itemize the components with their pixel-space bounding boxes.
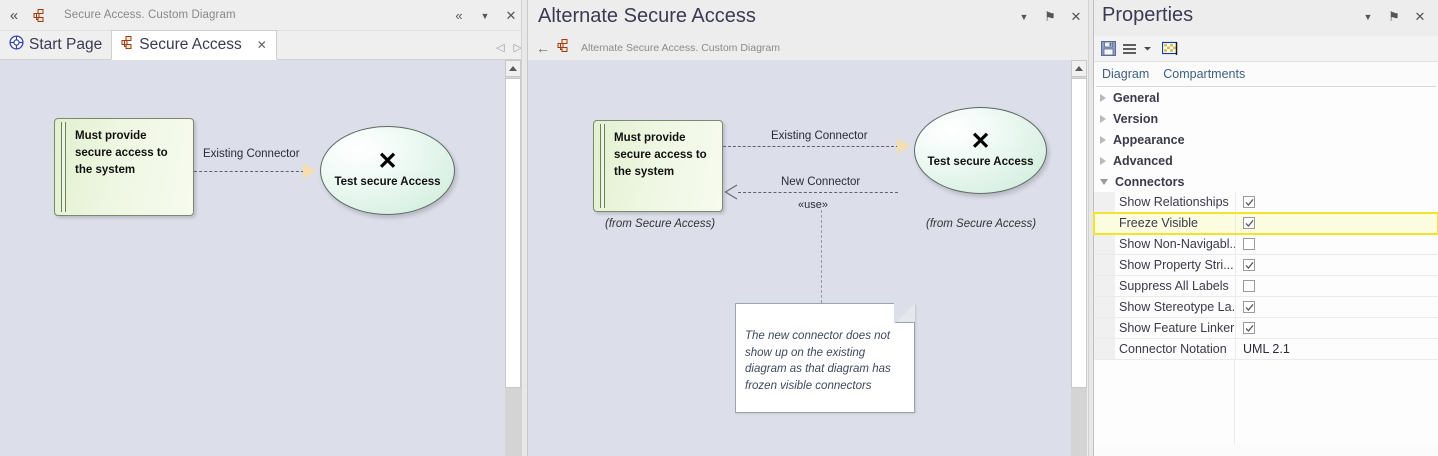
alternate-diagram-canvas[interactable]: Must provide secure access to the system… — [528, 60, 1078, 456]
new-connector-label: New Connector — [781, 176, 860, 188]
property-value[interactable] — [1235, 234, 1438, 254]
close-button[interactable]: ✕ — [1063, 4, 1089, 30]
chevron-right-icon — [1100, 94, 1106, 102]
tab-close-icon[interactable]: ✕ — [257, 38, 267, 52]
property-row-suppress-all-labels[interactable]: Suppress All Labels — [1094, 276, 1438, 297]
chevrons-left-icon[interactable]: « — [0, 8, 28, 23]
row-gutter — [1094, 213, 1115, 233]
save-icon[interactable] — [1101, 41, 1116, 56]
pin-button[interactable]: ⚑ — [1037, 4, 1063, 30]
breadcrumb-text: Alternate Secure Access. Custom Diagram — [581, 42, 780, 54]
property-group-version[interactable]: Version — [1094, 108, 1438, 129]
tab-navigation: ◁ ▷ — [496, 41, 522, 54]
properties-titlebar: Properties ▼ ⚑ ✕ — [1094, 0, 1438, 36]
checkered-flag-icon[interactable] — [1162, 41, 1178, 56]
left-right-splitter[interactable] — [521, 0, 528, 456]
tab-start-page-label: Start Page — [29, 36, 102, 54]
chevron-right-icon — [1100, 157, 1106, 165]
property-row-show-property-string[interactable]: Show Property Stri... — [1094, 255, 1438, 276]
tab-secure-access-label: Secure Access — [139, 36, 242, 54]
tab-secure-access[interactable]: Secure Access ✕ — [111, 30, 277, 60]
checkbox-checked[interactable] — [1243, 322, 1255, 334]
existing-connector-arrowhead — [897, 138, 910, 154]
left-diagram-canvas[interactable]: Must provide secure access to the system… — [0, 60, 512, 456]
row-gutter — [1094, 234, 1115, 254]
tab-prev-icon[interactable]: ◁ — [496, 41, 504, 54]
empty-row — [1094, 402, 1438, 423]
properties-empty-area — [1094, 360, 1438, 444]
breadcrumb: ← Alternate Secure Access. Custom Diagra… — [528, 36, 1094, 60]
left-canvas-bottom-edge — [0, 452, 512, 456]
scrollbar-thumb[interactable] — [505, 78, 521, 388]
usecase-shape[interactable]: ✕ Test secure Access — [320, 126, 455, 215]
property-row-show-stereotype-labels[interactable]: Show Stereotype La... — [1094, 297, 1438, 318]
left-diagram-panel: « Secure Access. Custom Diagram « ▼ ✕ — [0, 0, 528, 456]
property-row-connector-notation[interactable]: Connector Notation UML 2.1 — [1094, 339, 1438, 360]
requirement-shape[interactable]: Must provide secure access to the system — [593, 120, 723, 212]
property-label: Show Property Stri... — [1115, 258, 1235, 272]
left-panel-titlebar-buttons: « ▼ ✕ — [446, 0, 524, 31]
alternate-diagram-panel: Alternate Secure Access ▼ ⚑ ✕ ← Alternat… — [528, 0, 1094, 456]
property-label: Show Feature Linker — [1115, 321, 1235, 335]
checkbox-unchecked[interactable] — [1243, 238, 1255, 250]
properties-tree: General Version Appearance Advanced Conn… — [1094, 87, 1438, 444]
new-connector-stereotype: «use» — [798, 199, 828, 211]
requirement-from-label: (from Secure Access) — [605, 218, 715, 230]
row-gutter — [1094, 297, 1115, 317]
menu-dropdown-button[interactable]: ▼ — [1011, 4, 1037, 30]
menu-dropdown-button[interactable]: ▼ — [1355, 4, 1381, 30]
mid-panel-titlebar-buttons: ▼ ⚑ ✕ — [1011, 4, 1089, 30]
properties-toolbar — [1094, 36, 1438, 62]
left-panel-tabstrip: Start Page Secure Access ✕ ◁ ▷ — [0, 31, 528, 60]
properties-tabs: Diagram Compartments — [1094, 62, 1438, 86]
close-button[interactable]: ✕ — [1407, 4, 1433, 30]
collapse-button[interactable]: « — [446, 3, 472, 29]
property-group-advanced[interactable]: Advanced — [1094, 150, 1438, 171]
scrollbar-up-button[interactable] — [1071, 60, 1087, 77]
property-value[interactable] — [1235, 318, 1438, 338]
existing-connector-label: Existing Connector — [203, 148, 300, 160]
chevron-right-icon — [1100, 136, 1106, 144]
existing-connector-line[interactable] — [723, 146, 899, 147]
property-row-show-relationships[interactable]: Show Relationships — [1094, 192, 1438, 213]
property-label: Show Stereotype La... — [1115, 300, 1235, 314]
note-fold-triangle — [894, 303, 915, 324]
pin-button[interactable]: ⚑ — [1381, 4, 1407, 30]
left-panel-titlebar: « Secure Access. Custom Diagram « ▼ ✕ — [0, 0, 528, 31]
row-gutter — [1094, 339, 1115, 359]
property-group-connectors[interactable]: Connectors — [1094, 171, 1438, 192]
requirement-text: Must provide secure access to the system — [75, 128, 187, 179]
property-group-label: General — [1113, 91, 1160, 105]
property-label: Freeze Visible — [1115, 216, 1235, 230]
row-gutter — [1094, 192, 1115, 212]
mid-panel-titlebar: Alternate Secure Access ▼ ⚑ ✕ — [528, 0, 1094, 36]
property-row-freeze-visible[interactable]: Freeze Visible — [1094, 213, 1438, 234]
back-arrow-icon[interactable]: ← — [536, 41, 550, 55]
empty-row — [1094, 381, 1438, 402]
property-value[interactable] — [1235, 213, 1438, 233]
row-gutter — [1094, 318, 1115, 338]
usecase-from-label: (from Secure Access) — [926, 218, 1036, 230]
left-panel-title: Secure Access. Custom Diagram — [64, 9, 236, 21]
usecase-x-icon: ✕ — [377, 154, 397, 170]
existing-connector-arrowhead — [303, 163, 316, 179]
property-value[interactable] — [1235, 255, 1438, 275]
new-connector-arrowhead — [724, 184, 738, 200]
property-row-show-feature-linker[interactable]: Show Feature Linker — [1094, 318, 1438, 339]
note-shape[interactable]: The new connector does not show up on th… — [735, 303, 915, 413]
property-row-show-non-navigable[interactable]: Show Non-Navigabl... — [1094, 234, 1438, 255]
empty-row — [1094, 360, 1438, 381]
mid-panel-title: Alternate Secure Access — [538, 5, 756, 28]
property-group-label: Advanced — [1113, 154, 1173, 168]
usecase-x-icon: ✕ — [970, 134, 990, 150]
property-label: Show Non-Navigabl... — [1115, 237, 1235, 251]
properties-panel: Properties ▼ ⚑ ✕ — [1094, 0, 1438, 456]
note-anchor-line — [821, 210, 822, 303]
row-gutter — [1094, 255, 1115, 275]
existing-connector-label: Existing Connector — [771, 130, 868, 142]
property-group-general[interactable]: General — [1094, 87, 1438, 108]
property-label: Connector Notation — [1115, 342, 1235, 356]
tab-diagram[interactable]: Diagram — [1102, 67, 1149, 81]
usecase-label: Test secure Access — [334, 176, 440, 188]
custom-diagram-icon — [121, 36, 134, 54]
existing-connector-line[interactable] — [194, 171, 304, 172]
property-label: Show Relationships — [1115, 195, 1235, 209]
checkbox-checked[interactable] — [1243, 217, 1255, 229]
scrollbar-thumb[interactable] — [1071, 78, 1087, 388]
properties-title: Properties — [1102, 4, 1193, 27]
property-group-label: Appearance — [1113, 133, 1185, 147]
checkbox-checked[interactable] — [1243, 196, 1255, 208]
new-connector-line[interactable] — [738, 192, 898, 193]
chevron-right-icon — [1100, 115, 1106, 123]
application-window: « Secure Access. Custom Diagram « ▼ ✕ — [0, 0, 1438, 456]
scrollbar-up-button[interactable] — [505, 60, 521, 77]
requirement-left-bar — [600, 124, 605, 208]
checkbox-checked[interactable] — [1243, 259, 1255, 271]
note-text: The new connector does not show up on th… — [745, 328, 906, 394]
property-value[interactable]: UML 2.1 — [1235, 339, 1438, 359]
chevron-down-icon — [1100, 179, 1108, 185]
checkbox-unchecked[interactable] — [1243, 280, 1255, 292]
property-value[interactable] — [1235, 276, 1438, 296]
empty-row — [1094, 423, 1438, 444]
hamburger-menu-icon[interactable] — [1122, 43, 1137, 55]
left-panel-vertical-scrollbar[interactable] — [505, 60, 521, 456]
property-value[interactable] — [1235, 297, 1438, 317]
custom-diagram-icon — [557, 39, 570, 57]
requirement-text: Must provide secure access to the system — [614, 130, 716, 181]
requirement-shape[interactable]: Must provide secure access to the system — [54, 118, 194, 216]
property-label: Suppress All Labels — [1115, 279, 1235, 293]
property-group-label: Connectors — [1115, 175, 1184, 189]
property-value[interactable] — [1235, 192, 1438, 212]
row-gutter — [1094, 276, 1115, 296]
chevron-down-icon[interactable] — [1143, 44, 1152, 53]
usecase-label: Test secure Access — [927, 156, 1033, 168]
properties-titlebar-buttons: ▼ ⚑ ✕ — [1355, 4, 1433, 30]
custom-diagram-icon — [28, 9, 50, 22]
mid-panel-vertical-scrollbar[interactable] — [1071, 60, 1087, 456]
usecase-shape[interactable]: ✕ Test secure Access — [914, 107, 1047, 194]
property-group-appearance[interactable]: Appearance — [1094, 129, 1438, 150]
tab-start-page[interactable]: Start Page — [0, 30, 111, 59]
checkbox-checked[interactable] — [1243, 301, 1255, 313]
tab-compartments[interactable]: Compartments — [1163, 67, 1245, 81]
start-page-icon — [9, 35, 24, 55]
menu-dropdown-button[interactable]: ▼ — [472, 3, 498, 29]
requirement-left-bar — [61, 122, 66, 212]
property-group-label: Version — [1113, 112, 1158, 126]
